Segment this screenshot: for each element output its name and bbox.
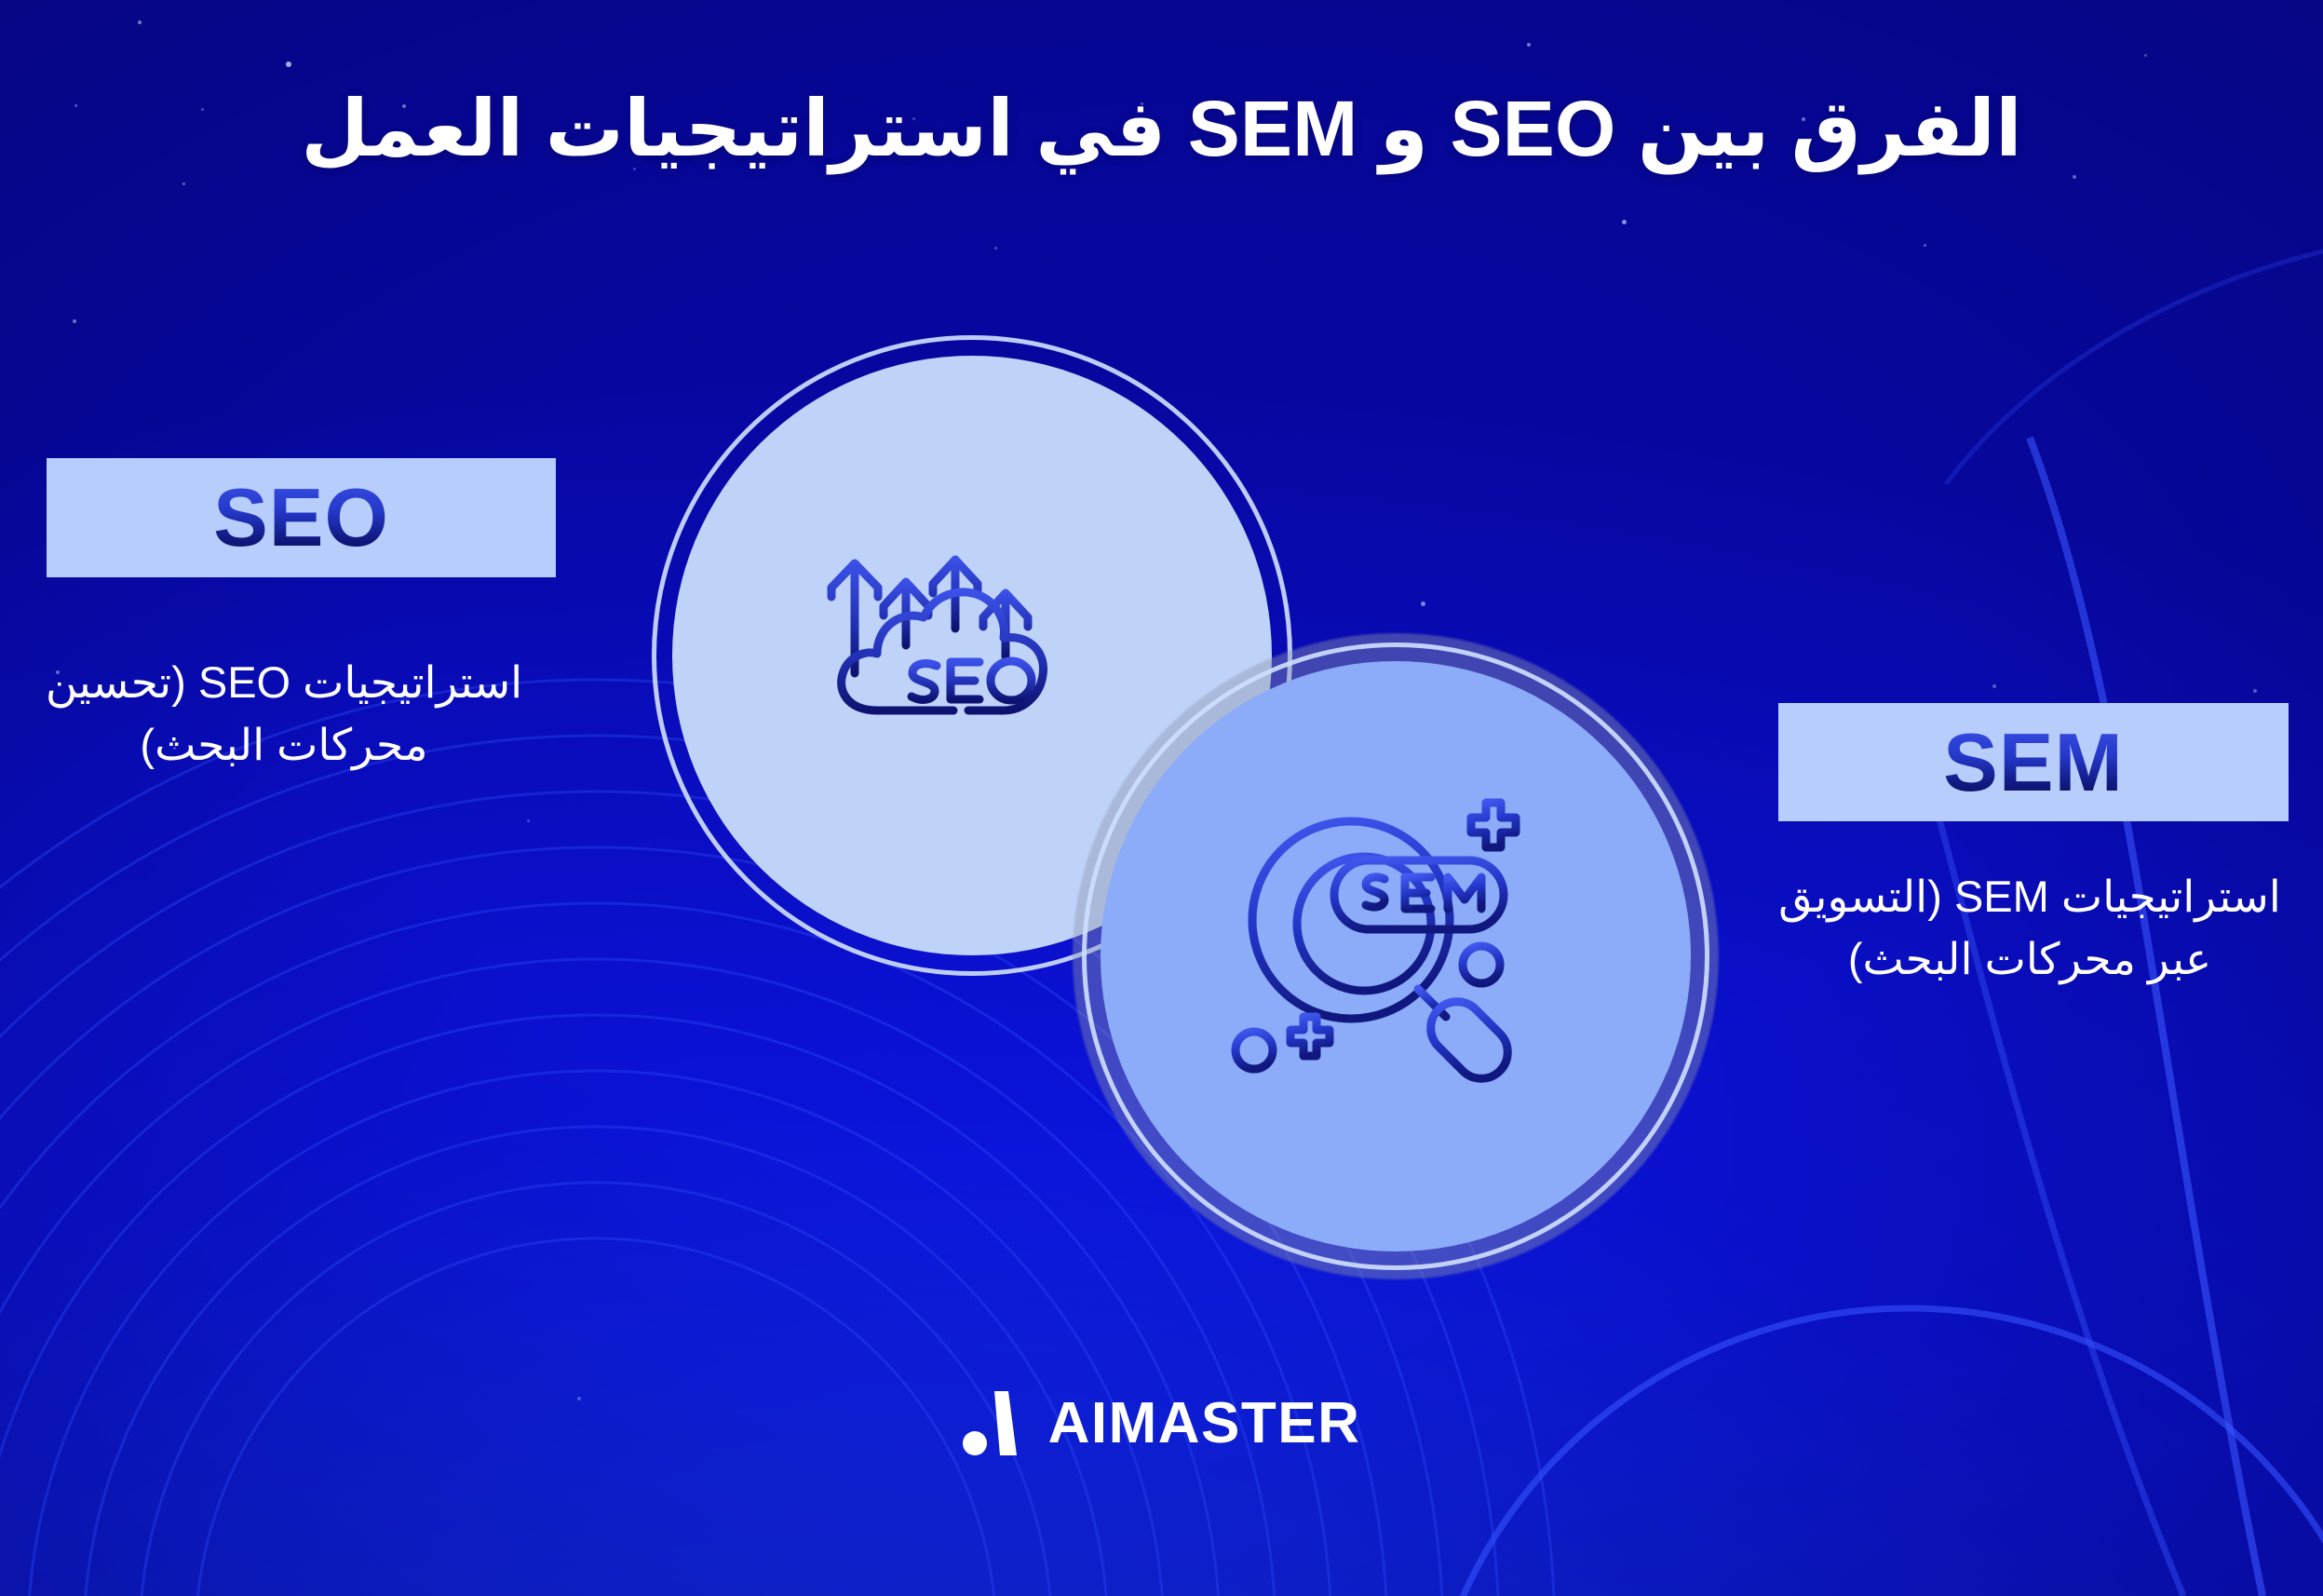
- sem-badge: SEM: [1778, 703, 2289, 821]
- aimaster-logo-mark: [963, 1389, 1024, 1458]
- seo-caption: استراتيجيات SEO (تحسين محركات البحث): [19, 652, 549, 776]
- sem-caption: استراتيجيات SEM (التسويق عبر محركات البح…: [1760, 866, 2300, 990]
- brand-name: AIMASTER: [1048, 1395, 1361, 1453]
- sem-magnifier-target-icon: [1224, 782, 1541, 1089]
- seo-cloud-arrows-icon: [819, 517, 1089, 750]
- seo-badge: SEO: [47, 458, 556, 577]
- page-title: الفرق بين SEO و SEM في استراتيجيات العمل: [0, 84, 2323, 174]
- seo-badge-label: SEO: [213, 477, 389, 559]
- brand-footer: AIMASTER: [0, 1389, 2323, 1458]
- sem-badge-label: SEM: [1943, 722, 2124, 804]
